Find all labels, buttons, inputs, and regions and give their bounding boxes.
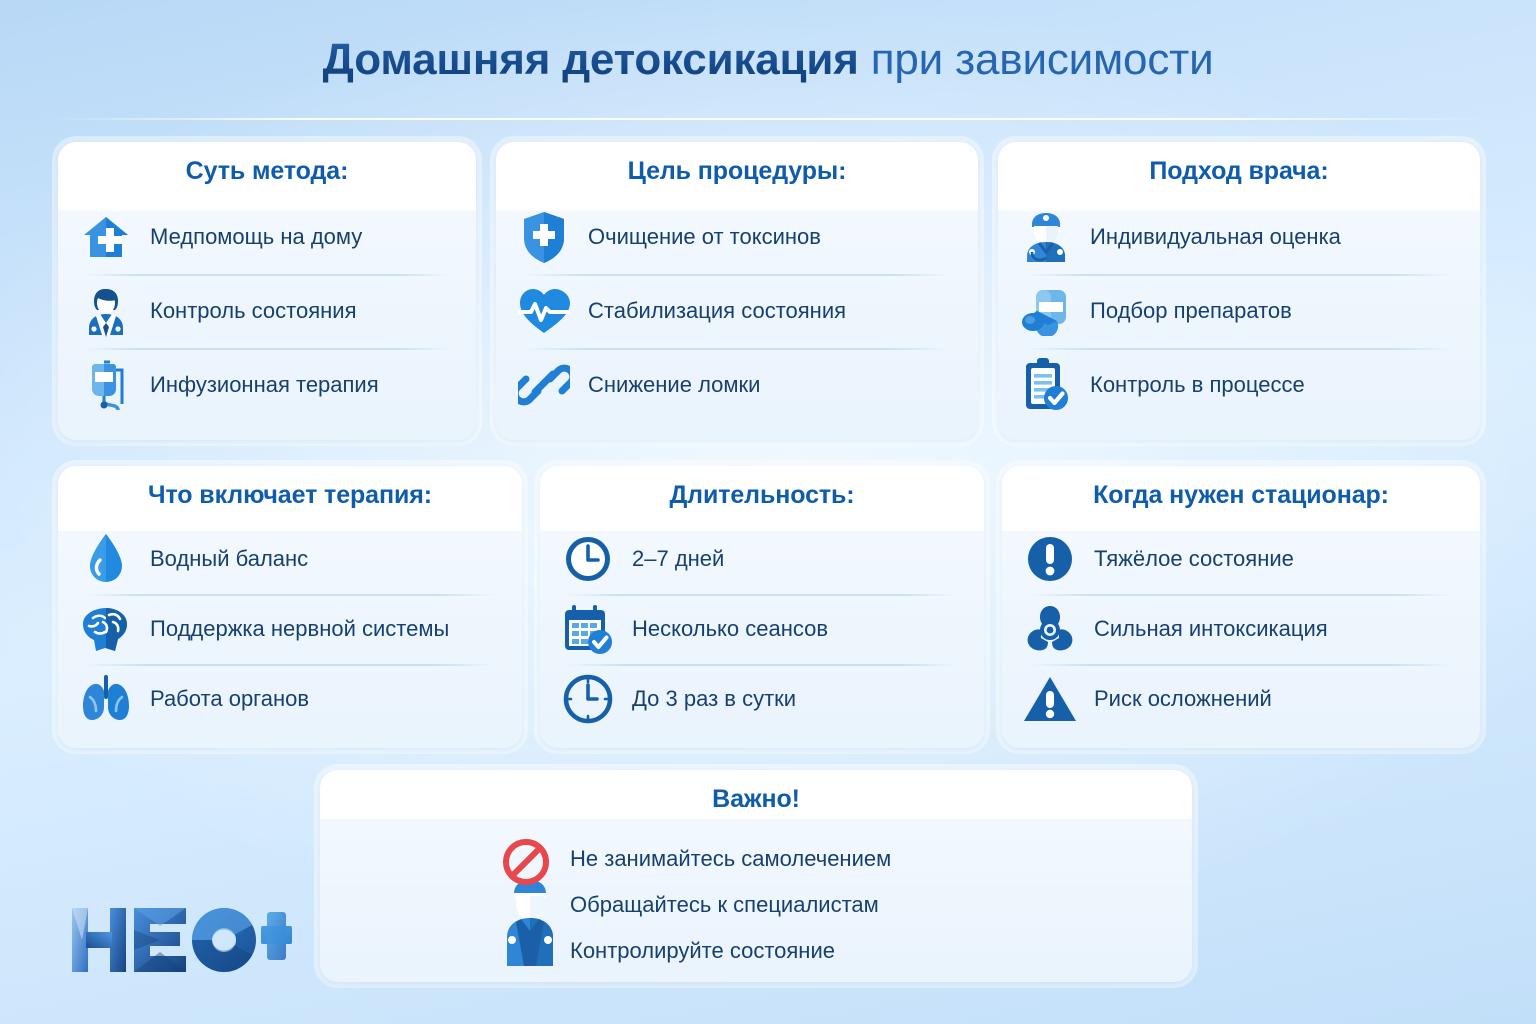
list-item[interactable]: Контролируйте состояние: [570, 928, 891, 974]
home-medical-icon: [78, 209, 134, 265]
page-title: Домашняя детоксикация при зависимости: [0, 38, 1536, 82]
shield-cross-icon: [516, 209, 572, 265]
card-heading: Цель процедуры:: [496, 142, 978, 200]
card-body: Очищение от токсинов Стабилизация состоя…: [496, 200, 978, 422]
card-kogda-nuzhen-stacionar: Когда нужен стационар: Тяжёлое состояние: [1002, 466, 1480, 748]
list-item[interactable]: Подбор препаратов: [1018, 274, 1460, 348]
list-item[interactable]: Очищение от токсинов: [516, 200, 958, 274]
page-title-light: при зависимости: [871, 35, 1214, 84]
list-item-label: Водный баланс: [150, 547, 308, 571]
list-item[interactable]: Индивидуальная оценка: [1018, 200, 1460, 274]
exclamation-circle-icon: [1022, 531, 1078, 587]
list-item-label: Контроль в процессе: [1090, 373, 1305, 397]
warning-triangle-icon: [1022, 671, 1078, 727]
list-item-label: Контроль состояния: [150, 299, 357, 323]
water-drop-icon: [78, 531, 134, 587]
card-body: Не занимайтесь самолечением Обращайтесь …: [320, 828, 1192, 982]
list-item[interactable]: Обращайтесь к специалистам: [570, 882, 891, 928]
list-item-label: Медпомощь на дому: [150, 225, 362, 249]
list-item[interactable]: Риск осложнений: [1022, 664, 1460, 734]
list-item-label: Инфузионная терапия: [150, 373, 379, 397]
card-dlitelnost: Длительность: 2–7 дней: [540, 466, 984, 748]
title-divider: [48, 118, 1488, 120]
clipboard-check-icon: [1018, 357, 1074, 413]
lungs-icon: [78, 671, 134, 727]
list-item-label: Не занимайтесь самолечением: [570, 846, 891, 872]
list-item-label: Контролируйте состояние: [570, 938, 835, 964]
brain-icon: [78, 601, 134, 657]
card-podhod-vracha: Подход врача: Индивидуальная оценка: [998, 142, 1480, 440]
doctor-stethoscope-icon: [1018, 209, 1074, 265]
iv-drip-icon: [78, 357, 134, 413]
neo-plus-logo[interactable]: [68, 900, 292, 980]
list-item-label: Индивидуальная оценка: [1090, 225, 1341, 249]
list-item-label: Сильная интоксикация: [1094, 617, 1328, 641]
list-item-label: Тяжёлое состояние: [1094, 547, 1294, 571]
card-suschnost-metoda: Суть метода: Медпомощь на дому: [58, 142, 476, 440]
list-item[interactable]: Сильная интоксикация: [1022, 594, 1460, 664]
list-item-label: Работа органов: [150, 687, 309, 711]
list-item[interactable]: Работа органов: [78, 664, 502, 734]
card-heading: Важно!: [320, 770, 1192, 828]
card-body: Тяжёлое состояние Сильная интоксикация: [1002, 524, 1480, 734]
card-cel-procedury: Цель процедуры: Очищение от токсинов Ста…: [496, 142, 978, 440]
card-body: 2–7 дней Несколько сеансо: [540, 524, 984, 734]
list-item[interactable]: Стабилизация состояния: [516, 274, 958, 348]
card-body: Индивидуальная оценка Подбор препаратов: [998, 200, 1480, 422]
list-item[interactable]: Контроль в процессе: [1018, 348, 1460, 422]
list-item[interactable]: Снижение ломки: [516, 348, 958, 422]
list-item-label: Поддержка нервной системы: [150, 617, 449, 641]
card-heading: Когда нужен стационар:: [1002, 466, 1480, 524]
clock-icon: [560, 531, 616, 587]
card-heading: Подход врача:: [998, 142, 1480, 200]
calendar-check-icon: [560, 601, 616, 657]
list-item[interactable]: До 3 раз в сутки: [560, 664, 964, 734]
no-entry-icon: [502, 838, 550, 891]
clock-outline-icon: [560, 671, 616, 727]
list-item-label: Очищение от токсинов: [588, 225, 821, 249]
list-item-label: Снижение ломки: [588, 373, 760, 397]
list-item[interactable]: Тяжёлое состояние: [1022, 524, 1460, 594]
list-item-label: Стабилизация состояния: [588, 299, 846, 323]
card-body: Медпомощь на дому Контроль состояния: [58, 200, 476, 422]
pills-capsule-icon: [1018, 283, 1074, 339]
important-list: Не занимайтесь самолечением Обращайтесь …: [570, 836, 891, 974]
list-item-label: Несколько сеансов: [632, 617, 828, 641]
list-item[interactable]: Не занимайтесь самолечением: [570, 836, 891, 882]
list-item[interactable]: Медпомощь на дому: [78, 200, 456, 274]
heart-pulse-icon: [516, 283, 572, 339]
card-body: Водный баланс Поддержка нервно: [58, 524, 522, 734]
card-vazhno: Важно! Не занимайтесь самол: [320, 770, 1192, 982]
list-item-label: Обращайтесь к специалистам: [570, 892, 879, 918]
biohazard-icon: [1022, 601, 1078, 657]
list-item[interactable]: 2–7 дней: [560, 524, 964, 594]
list-item[interactable]: Поддержка нервной системы: [78, 594, 502, 664]
list-item[interactable]: Несколько сеансов: [560, 594, 964, 664]
list-item[interactable]: Контроль состояния: [78, 274, 456, 348]
doctor-person-icon: [78, 283, 134, 339]
list-item[interactable]: Инфузионная терапия: [78, 348, 456, 422]
card-heading: Суть метода:: [58, 142, 476, 200]
list-item-label: 2–7 дней: [632, 547, 724, 571]
list-item-label: Подбор препаратов: [1090, 299, 1292, 323]
card-heading: Что включает терапия:: [58, 466, 522, 524]
chain-link-icon: [516, 357, 572, 413]
card-chto-vklyuchaet-terapiya: Что включает терапия: Водный баланс: [58, 466, 522, 748]
list-item-label: До 3 раз в сутки: [632, 687, 796, 711]
list-item-label: Риск осложнений: [1094, 687, 1272, 711]
card-heading: Длительность:: [540, 466, 984, 524]
list-item[interactable]: Водный баланс: [78, 524, 502, 594]
page-title-strong: Домашняя детоксикация: [323, 35, 859, 84]
